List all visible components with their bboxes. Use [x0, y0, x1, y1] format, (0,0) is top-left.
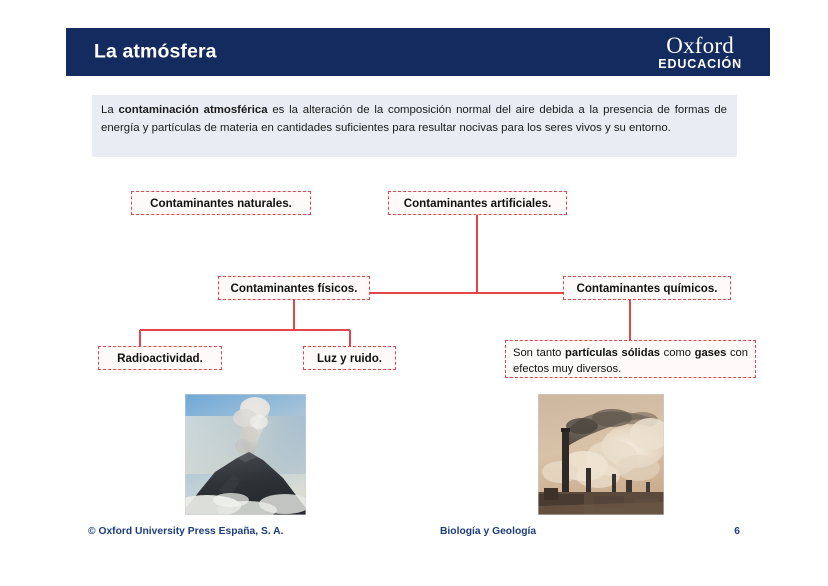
factory-pollution-illustration	[538, 394, 664, 515]
footer-subject: Biología y Geología	[440, 526, 536, 537]
volcano-eruption-photo	[185, 394, 306, 515]
diagram-node-luz-y-ruido[interactable]: Luz y ruido.	[303, 346, 396, 370]
diagram-node-radioactividad[interactable]: Radioactividad.	[98, 346, 222, 370]
diagram-node-label: Luz y ruido.	[317, 352, 382, 365]
footer-copyright: © Oxford University Press España, S. A.	[88, 526, 283, 537]
diagram-node-label: Radioactividad.	[117, 352, 203, 365]
diagram-node-contaminantes-fisicos[interactable]: Contaminantes físicos.	[218, 276, 370, 300]
diagram-node-label: Contaminantes físicos.	[231, 282, 358, 295]
slide-footer: © Oxford University Press España, S. A. …	[88, 526, 740, 540]
gases-text-part1: Son tanto	[513, 347, 565, 359]
factory-smokestacks-photo	[538, 394, 664, 515]
diagram-node-label: Contaminantes naturales.	[150, 197, 292, 210]
volcano-eruption-illustration	[185, 394, 306, 515]
gases-text-bold1: partículas sólidas	[565, 347, 660, 359]
diagram-node-label: Contaminantes artificiales.	[404, 197, 552, 210]
gases-text-bold2: gases	[695, 347, 727, 359]
diagram-node-label: Contaminantes químicos.	[576, 282, 717, 295]
diagram-node-contaminantes-naturales[interactable]: Contaminantes naturales.	[131, 191, 311, 215]
footer-page-number: 6	[734, 526, 740, 537]
gases-text-part2: como	[660, 347, 695, 359]
diagram-node-gases-description[interactable]: Son tanto partículas sólidas como gases …	[505, 340, 756, 378]
diagram-node-contaminantes-quimicos[interactable]: Contaminantes químicos.	[563, 276, 731, 300]
diagram-node-contaminantes-artificiales[interactable]: Contaminantes artificiales.	[388, 191, 567, 215]
